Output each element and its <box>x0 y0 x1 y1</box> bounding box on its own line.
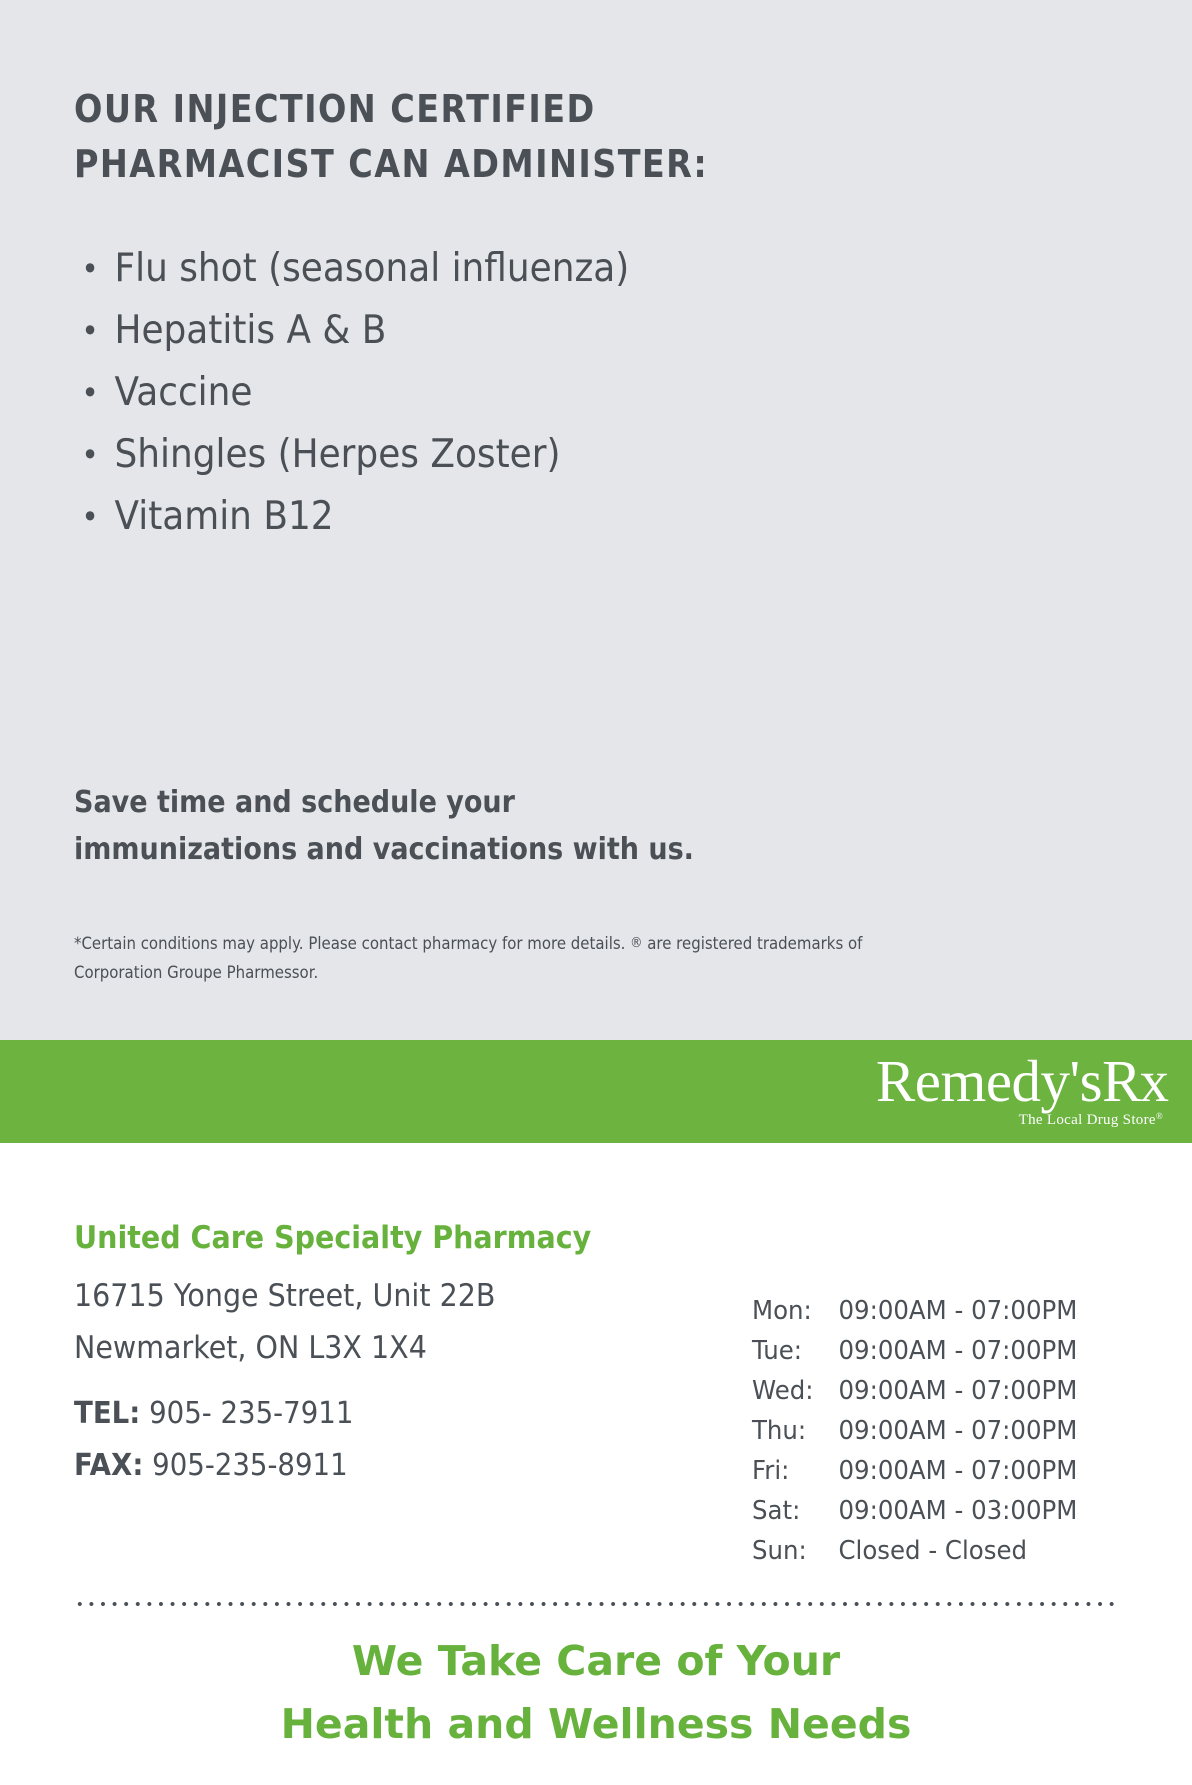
hours-day: Mon: <box>752 1291 838 1331</box>
list-item: • Flu shot (seasonal influenza) <box>74 238 902 300</box>
list-item-label: Vitamin B12 <box>114 494 333 539</box>
hours-time: Closed - Closed <box>838 1531 1077 1571</box>
table-row: Wed: 09:00AM - 07:00PM <box>752 1371 1077 1411</box>
page-title: OUR INJECTION CERTIFIED PHARMACIST CAN A… <box>74 82 866 192</box>
services-panel: OUR INJECTION CERTIFIED PHARMACIST CAN A… <box>0 0 1192 1040</box>
fax-label: FAX: <box>74 1448 143 1483</box>
slogan: We Take Care of Your Health and Wellness… <box>0 1630 1192 1756</box>
list-item-label: Flu shot (seasonal influenza) <box>114 246 629 291</box>
hours-time: 09:00AM - 07:00PM <box>838 1291 1077 1331</box>
fax-value: 905-235-8911 <box>143 1448 347 1483</box>
table-row: Sun: Closed - Closed <box>752 1531 1077 1571</box>
contact-numbers: TEL: 905- 235-7911 FAX: 905-235-8911 <box>74 1388 353 1492</box>
logo-wordmark-main: Remedy's <box>876 1048 1102 1114</box>
hours-day: Wed: <box>752 1371 838 1411</box>
hours-day: Fri: <box>752 1451 838 1491</box>
list-item: • Hepatitis A & B <box>74 300 902 362</box>
hours-day: Tue: <box>752 1331 838 1371</box>
hours-time: 09:00AM - 07:00PM <box>838 1411 1077 1451</box>
hours-day: Sat: <box>752 1491 838 1531</box>
table-row: Sat: 09:00AM - 03:00PM <box>752 1491 1077 1531</box>
hours-day: Sun: <box>752 1531 838 1571</box>
telephone-label: TEL: <box>74 1396 140 1431</box>
telephone-row: TEL: 905- 235-7911 <box>74 1388 353 1440</box>
list-item-label: Hepatitis A & B <box>114 308 386 353</box>
list-item: • Shingles (Herpes Zoster) <box>74 424 902 486</box>
logo-wordmark: Remedy'sRx <box>876 1050 1167 1112</box>
list-item: • Vitamin B12 <box>74 486 902 548</box>
hours-time: 09:00AM - 07:00PM <box>838 1371 1077 1411</box>
dotted-divider <box>74 1601 1118 1607</box>
disclaimer-text-b: are registered trademarks of <box>642 934 862 954</box>
slogan-line-2: Health and Wellness Needs <box>0 1693 1192 1756</box>
call-to-action-line-1: Save time and schedule your <box>74 780 866 827</box>
bullet-icon: • <box>81 362 98 424</box>
bullet-icon: • <box>81 486 98 548</box>
page-title-line-1: OUR INJECTION CERTIFIED <box>74 82 866 137</box>
page-title-line-2: PHARMACIST CAN ADMINISTER: <box>74 137 866 192</box>
logo-tagline-text: The Local Drug Store <box>1019 1112 1156 1128</box>
address-line-2: Newmarket, ON L3X 1X4 <box>74 1322 495 1374</box>
table-row: Fri: 09:00AM - 07:00PM <box>752 1451 1077 1491</box>
services-list: • Flu shot (seasonal influenza) • Hepati… <box>74 238 974 548</box>
remedysrx-logo: Remedy'sRx The Local Drug Store® <box>876 1050 1167 1129</box>
bullet-icon: • <box>81 424 98 486</box>
telephone-value[interactable]: 905- 235-7911 <box>140 1396 353 1431</box>
disclaimer: *Certain conditions may apply. Please co… <box>74 930 1007 987</box>
fax-row: FAX: 905-235-8911 <box>74 1440 353 1492</box>
store-name: United Care Specialty Pharmacy <box>74 1218 591 1258</box>
disclaimer-line-2: Corporation Groupe Pharmessor. <box>74 959 1007 988</box>
hours-time: 09:00AM - 07:00PM <box>838 1331 1077 1371</box>
logo-wordmark-rx: Rx <box>1102 1048 1167 1114</box>
call-to-action: Save time and schedule your immunization… <box>74 780 866 874</box>
store-address: 16715 Yonge Street, Unit 22B Newmarket, … <box>74 1270 495 1374</box>
call-to-action-line-2: immunizations and vaccinations with us. <box>74 827 866 874</box>
list-item-label: Shingles (Herpes Zoster) <box>114 432 560 477</box>
address-line-1: 16715 Yonge Street, Unit 22B <box>74 1270 495 1322</box>
hours-day: Thu: <box>752 1411 838 1451</box>
registered-trademark-icon: ® <box>630 935 642 951</box>
table-row: Tue: 09:00AM - 07:00PM <box>752 1331 1077 1371</box>
disclaimer-line-1: *Certain conditions may apply. Please co… <box>74 930 1007 959</box>
list-item: • Vaccine <box>74 362 902 424</box>
list-item-label: Vaccine <box>114 370 252 415</box>
table-row: Thu: 09:00AM - 07:00PM <box>752 1411 1077 1451</box>
slogan-line-1: We Take Care of Your <box>0 1630 1192 1693</box>
store-hours-table: Mon: 09:00AM - 07:00PM Tue: 09:00AM - 07… <box>752 1291 1077 1571</box>
hours-time: 09:00AM - 03:00PM <box>838 1491 1077 1531</box>
table-row: Mon: 09:00AM - 07:00PM <box>752 1291 1077 1331</box>
disclaimer-text-a: *Certain conditions may apply. Please co… <box>74 934 630 954</box>
hours-time: 09:00AM - 07:00PM <box>838 1451 1077 1491</box>
contact-section: United Care Specialty Pharmacy 16715 Yon… <box>0 1143 1192 1785</box>
bullet-icon: • <box>81 300 98 362</box>
logo-registered-icon: ® <box>1156 1111 1163 1121</box>
bullet-icon: • <box>81 238 98 300</box>
brand-band: Remedy'sRx The Local Drug Store® <box>0 1040 1192 1143</box>
